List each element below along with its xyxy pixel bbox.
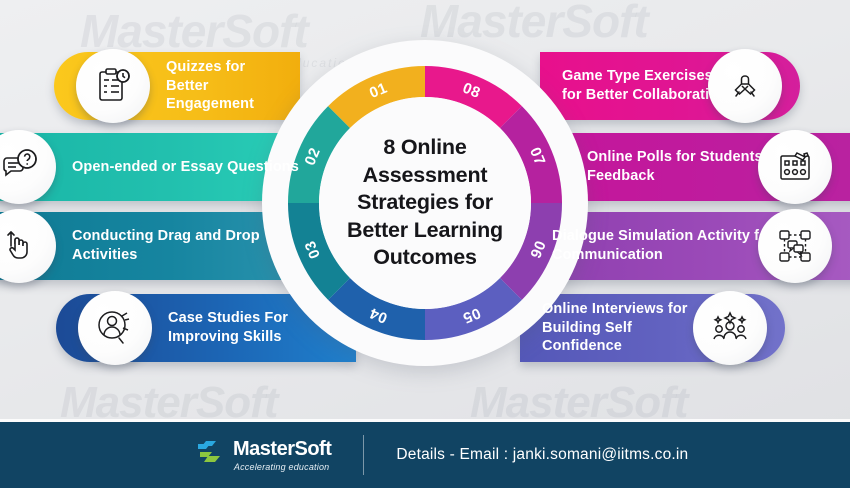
footer-contact-details[interactable]: Details - Email : janki.somani@iitms.co.… bbox=[396, 446, 688, 464]
label-line: Better bbox=[166, 78, 209, 94]
case-study-person-icon bbox=[78, 291, 152, 365]
strategy-label: Case Studies For Improving Skills bbox=[168, 309, 356, 346]
label-line: Feedback bbox=[587, 168, 655, 184]
strategy-bar-quizzes[interactable]: Quizzes for Better Engagement bbox=[54, 52, 300, 120]
quiz-clipboard-icon bbox=[76, 49, 150, 123]
logo-tagline: Accelerating education bbox=[234, 462, 329, 472]
interview-people-icon bbox=[693, 291, 767, 365]
dialogue-bubbles-icon bbox=[758, 209, 832, 283]
label-line: Dialogue Simulation bbox=[552, 228, 693, 244]
footer-bar: MasterSoft Accelerating education Detail… bbox=[0, 422, 850, 488]
label-line: Online Interviews bbox=[542, 301, 664, 317]
strategy-label: Conducting Drag and Drop Activities bbox=[72, 227, 325, 264]
strategy-label: Quizzes for Better Engagement bbox=[166, 58, 300, 114]
label-line: Engagement bbox=[166, 96, 254, 112]
logo-name: MasterSoft bbox=[233, 439, 331, 459]
label-line: Improving Skills bbox=[168, 329, 282, 345]
label-line: Conducting Drag bbox=[72, 228, 191, 244]
label-line: Open-ended or bbox=[72, 159, 176, 175]
footer-separator bbox=[363, 435, 364, 475]
label-line: Case Studies For bbox=[168, 310, 288, 326]
logo-arrows-icon bbox=[196, 440, 226, 471]
strategy-bar-online-polls[interactable]: Online Polls for Students' Feedback bbox=[565, 133, 850, 201]
label-line: Essay Questions bbox=[181, 159, 299, 175]
label-line: Online Polls for bbox=[587, 149, 696, 165]
mastersoft-logo[interactable]: MasterSoft Accelerating education bbox=[196, 439, 331, 472]
label-line: Game Type bbox=[562, 68, 640, 84]
poll-checklist-icon bbox=[758, 130, 832, 204]
infographic-canvas: MasterSoft MasterSoft MasterSoft MasterS… bbox=[0, 0, 850, 488]
label-line: Students' bbox=[700, 149, 766, 165]
teamwork-handshake-icon bbox=[708, 49, 782, 123]
label-line: Communication bbox=[552, 247, 663, 263]
label-line: Quizzes for bbox=[166, 59, 245, 75]
strategy-label: Open-ended or Essay Questions bbox=[72, 158, 311, 177]
label-line: Confidence bbox=[542, 338, 622, 354]
strategy-bar-online-interviews[interactable]: Online Interviews for Building Self Conf… bbox=[520, 294, 785, 362]
